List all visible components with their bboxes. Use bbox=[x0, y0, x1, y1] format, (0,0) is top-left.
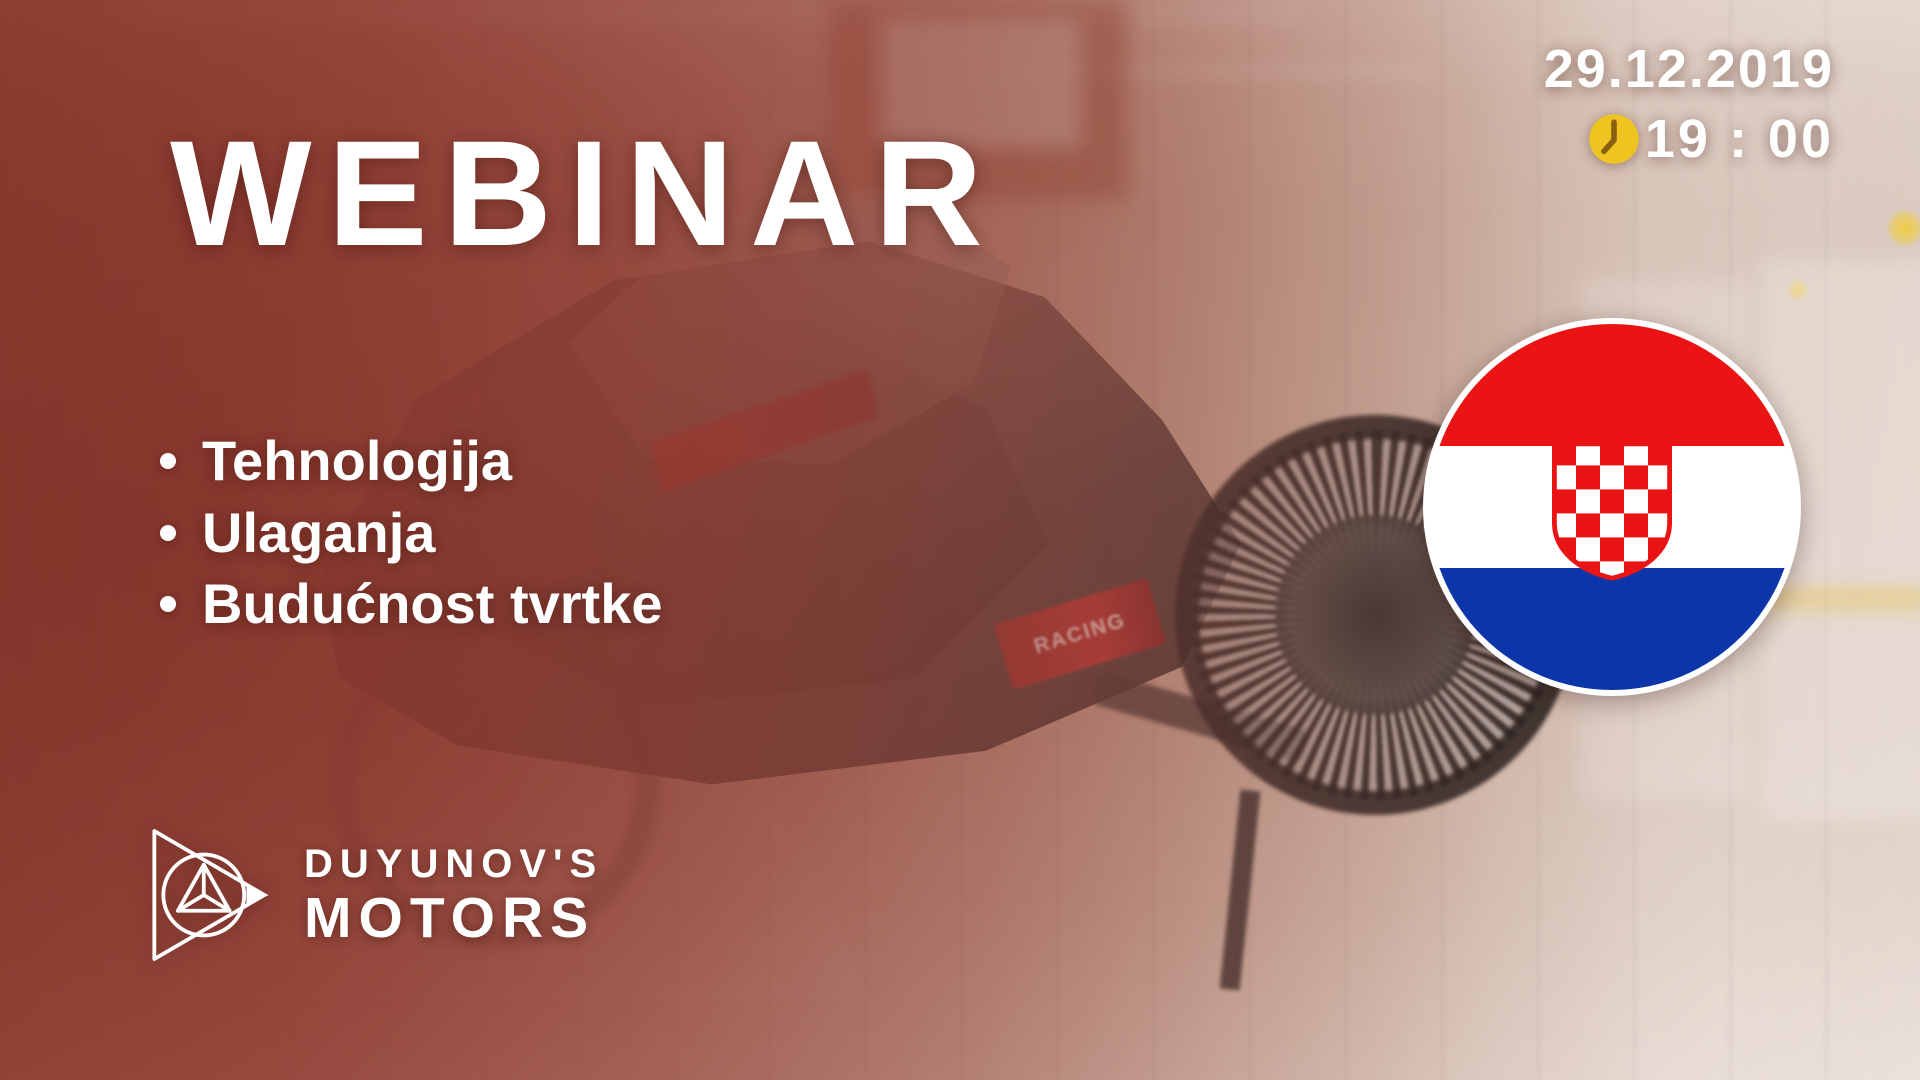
duyunov-triangle-logo-icon bbox=[138, 822, 274, 968]
schedule-block: 29.12.2019 19 : 00 bbox=[1544, 38, 1834, 170]
brand-logo-text: DUYUNOV'S MOTORS bbox=[304, 844, 603, 947]
webinar-time-row: 19 : 00 bbox=[1544, 108, 1834, 170]
webinar-date: 29.12.2019 bbox=[1544, 38, 1834, 100]
brand-name-line1: DUYUNOV'S bbox=[304, 844, 603, 884]
webinar-banner: RACING WEBINAR Tehnologija Ulaganja Budu… bbox=[0, 0, 1920, 1080]
bullet-dot-icon bbox=[160, 525, 176, 541]
list-item: Budućnost tvrtke bbox=[160, 568, 663, 640]
webinar-time: 19 : 00 bbox=[1645, 108, 1834, 170]
page-title: WEBINAR bbox=[170, 118, 999, 268]
flag-band-blue bbox=[1429, 568, 1795, 690]
bullet-dot-icon bbox=[160, 453, 176, 469]
brand-logo: DUYUNOV'S MOTORS bbox=[138, 822, 603, 968]
croatia-flag-icon bbox=[1423, 318, 1801, 696]
clock-icon bbox=[1587, 112, 1641, 166]
topic-label: Budućnost tvrtke bbox=[202, 568, 663, 640]
flag-band-red bbox=[1429, 324, 1795, 446]
topic-list: Tehnologija Ulaganja Budućnost tvrtke bbox=[160, 425, 663, 640]
topic-label: Tehnologija bbox=[202, 425, 512, 497]
topic-label: Ulaganja bbox=[202, 497, 435, 569]
brand-name-line2: MOTORS bbox=[304, 890, 603, 947]
bullet-dot-icon bbox=[160, 596, 176, 612]
croatia-coat-of-arms-icon bbox=[1552, 441, 1672, 581]
list-item: Ulaganja bbox=[160, 497, 663, 569]
list-item: Tehnologija bbox=[160, 425, 663, 497]
